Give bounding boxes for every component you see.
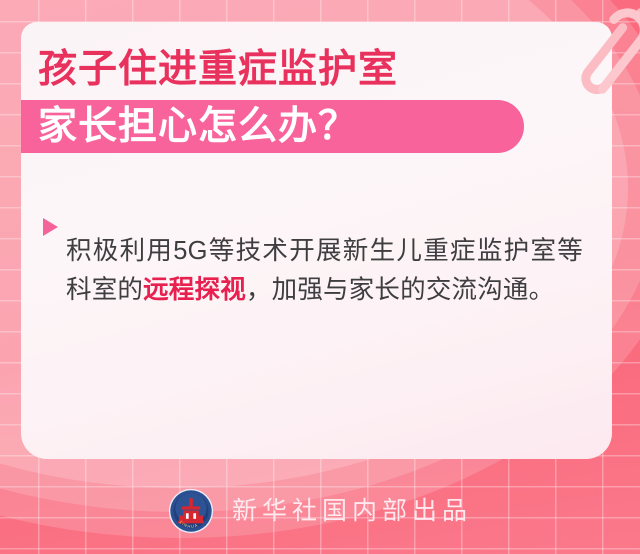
headline-block: 孩子住进重症监护室 家长担心怎么办？	[21, 44, 612, 153]
headline-line-2: 家长担心怎么办？	[38, 100, 358, 153]
headline-pill-background: 家长担心怎么办？	[21, 100, 524, 153]
footer-credit-text: 新华社国内部出品	[232, 488, 472, 534]
body-text-highlight: 远程探视	[143, 276, 246, 304]
xinhua-logo-icon: XINHUA	[168, 488, 214, 534]
triangle-right-icon	[43, 218, 58, 236]
paperclip-icon	[567, 0, 640, 110]
content-card: 孩子住进重症监护室 家长担心怎么办？ 积极利用5G等技术开展新生儿重症监护室等科…	[21, 22, 612, 459]
body-text-part-2: ，加强与家长的交流沟通。	[246, 276, 554, 304]
headline-line-1: 孩子住进重症监护室	[38, 44, 612, 96]
body-paragraph-block: 积极利用5G等技术开展新生儿重症监护室等科室的远程探视，加强与家长的交流沟通。	[43, 206, 583, 335]
footer-bar: XINHUA 新华社国内部出品	[0, 482, 640, 540]
poster-root: 孩子住进重症监护室 家长担心怎么办？ 积极利用5G等技术开展新生儿重症监护室等科…	[0, 0, 640, 554]
body-paragraph: 积极利用5G等技术开展新生儿重症监护室等科室的远程探视，加强与家长的交流沟通。	[66, 232, 583, 310]
